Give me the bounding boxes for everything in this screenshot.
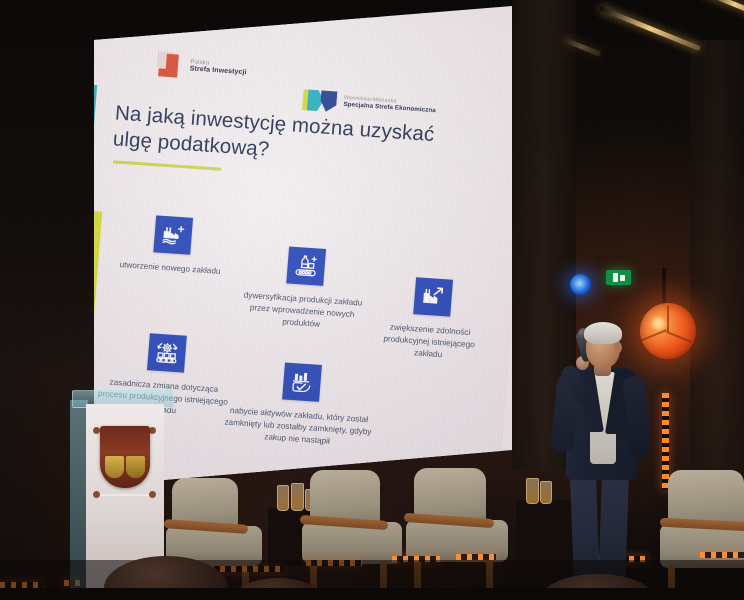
lectern-knob-tl (93, 427, 100, 434)
lamp-pole (662, 268, 666, 308)
stage-drape-right (690, 40, 744, 470)
coat-of-arms-plaque (100, 426, 150, 488)
blue-spot-light (570, 274, 591, 295)
led-floor-strip-6 (700, 552, 744, 558)
lectern-rod-bottom (92, 494, 156, 496)
lectern-knob-bl (93, 491, 100, 498)
lectern-knob-tr (149, 427, 156, 434)
foreground-bar (0, 588, 744, 600)
drink-glass-4 (526, 478, 539, 504)
conference-stage-photo: Polska Strefa Inwestycji (0, 0, 744, 600)
presenter (546, 320, 666, 600)
emergency-exit-sign (606, 270, 631, 285)
drink-glass-1 (277, 485, 289, 511)
lectern-knob-br (149, 491, 156, 498)
